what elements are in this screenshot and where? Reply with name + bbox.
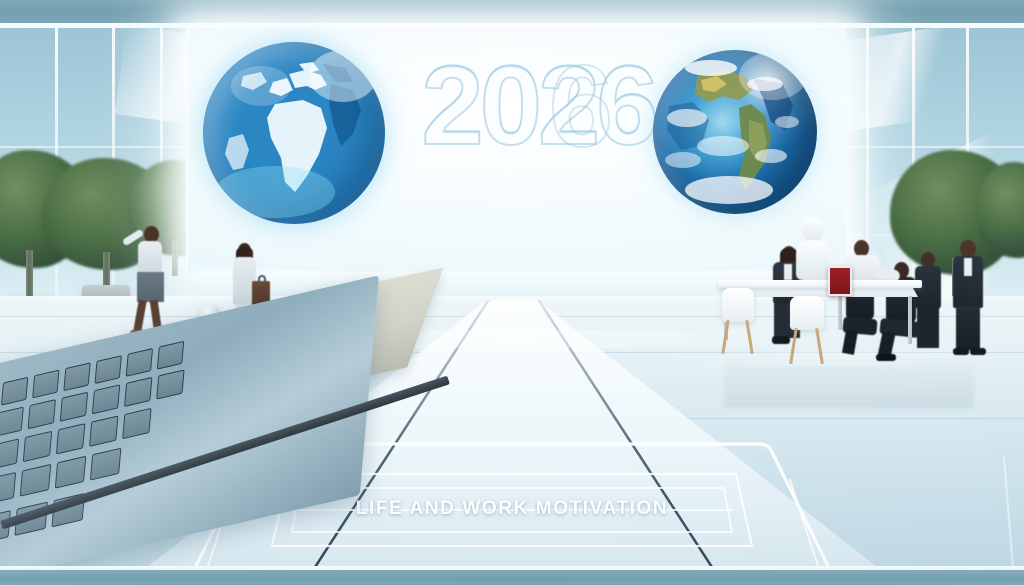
figure-skirt: [137, 272, 164, 302]
keyboard-key[interactable]: [20, 464, 52, 497]
table-leg: [838, 292, 842, 330]
figure-legs: [956, 306, 980, 350]
keyboard-key[interactable]: [60, 392, 88, 422]
figure-leg: [133, 300, 146, 333]
meeting-reflection: [724, 354, 974, 408]
foreground-keyboard: [0, 372, 400, 585]
briefcase-handle: [258, 275, 266, 282]
keyboard-key[interactable]: [23, 431, 52, 462]
globe-landmass-left: [203, 42, 385, 224]
photoreal-earth-globe: [653, 50, 817, 214]
keyboard-key[interactable]: [92, 384, 120, 414]
keyboard-key[interactable]: [0, 438, 19, 469]
figure-head: [802, 218, 824, 242]
white-chair-center[interactable]: [790, 296, 824, 330]
scene-root: 2026 6: [0, 0, 1024, 585]
keyboard-key[interactable]: [55, 456, 87, 489]
keyboard-key[interactable]: [95, 355, 122, 384]
keyboard-key[interactable]: [124, 377, 152, 407]
stylized-blue-globe: [203, 42, 385, 224]
meeting-table-top: [718, 280, 922, 288]
keyboard-key[interactable]: [0, 472, 16, 505]
keyboard-key[interactable]: [0, 407, 24, 437]
keyboard-key[interactable]: [32, 370, 59, 399]
keyboard-key[interactable]: [90, 448, 122, 481]
woman-gesturing-at-display: [126, 226, 174, 338]
ceiling-band: [0, 0, 1024, 23]
foreground-band: [0, 570, 1024, 585]
figure-torso: [796, 240, 830, 280]
globe-landmass-right: [653, 50, 817, 214]
table-leg: [908, 296, 912, 344]
keyboard-key[interactable]: [28, 399, 56, 429]
red-laptop[interactable]: [828, 266, 852, 296]
keyboard-key[interactable]: [89, 415, 118, 446]
keyboard-key[interactable]: [126, 348, 153, 377]
keyboard-key[interactable]: [156, 369, 184, 399]
standing-man-dark-suit: [948, 240, 988, 358]
keyboard-key[interactable]: [63, 362, 90, 391]
keyboard-key[interactable]: [1, 377, 28, 406]
white-chair-left[interactable]: [722, 288, 754, 322]
keyboard-key[interactable]: [56, 423, 85, 454]
keyboard-key[interactable]: [122, 408, 151, 439]
figure-shirt: [964, 258, 972, 276]
tree-trunk: [26, 250, 33, 302]
figure-shoe: [772, 336, 790, 344]
figure-torso: [138, 241, 162, 275]
keyboard-key[interactable]: [157, 341, 184, 370]
figure-shin: [842, 329, 858, 355]
